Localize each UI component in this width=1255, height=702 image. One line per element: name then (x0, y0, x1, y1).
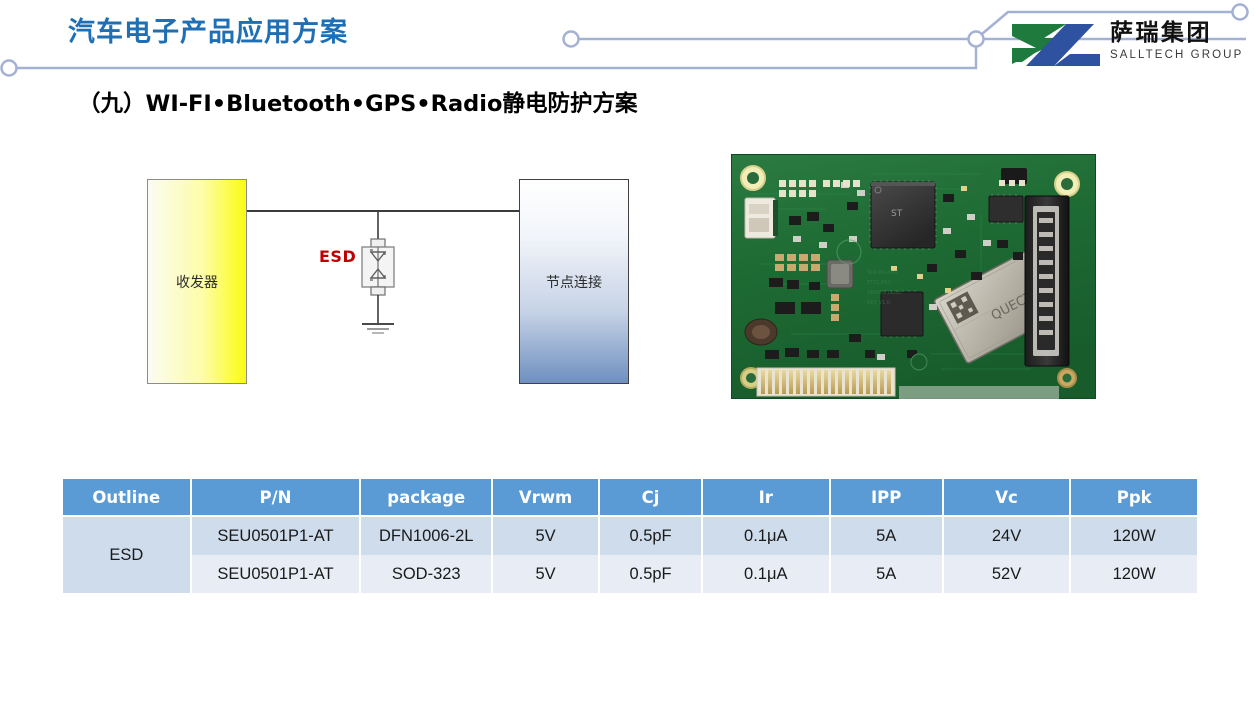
salltech-logo-mark (1008, 22, 1104, 74)
cell-ppk: 120W (1070, 555, 1197, 593)
svg-text:REV V1.0: REV V1.0 (867, 300, 890, 306)
col-header-package: package (360, 479, 492, 516)
cell-pn: SEU0501P1-AT (191, 555, 361, 593)
pcb-board-photo: ST QUECTEL (731, 154, 1096, 399)
cell-vrwm: 5V (492, 555, 599, 593)
esd-terminal-top (371, 239, 385, 247)
cell-cj: 0.5pF (599, 555, 702, 593)
trace-node-left (2, 61, 17, 76)
esd-protection-schematic: 收发器 节点连接 ESD (130, 160, 650, 410)
col-header-pn: P/N (191, 479, 361, 516)
svg-text:SCP-BD-ASD: SCP-BD-ASD (867, 270, 898, 276)
col-header-ir: Ir (702, 479, 830, 516)
trace-node-junction (969, 32, 984, 47)
trace-node-middle (564, 32, 579, 47)
schematic-box-node: 节点连接 (519, 179, 629, 384)
cell-vc: 52V (943, 555, 1071, 593)
svg-text:VER0001a2Bc: VER0001a2Bc (867, 290, 902, 296)
cell-vc: 24V (943, 516, 1071, 555)
cell-ir: 0.1μA (702, 555, 830, 593)
table-header-row: Outline P/N package Vrwm Cj Ir IPP Vc Pp… (63, 479, 1197, 516)
table-row: SEU0501P1-AT SOD-323 5V 0.5pF 0.1μA 5A 5… (63, 555, 1197, 593)
spec-table-container: Outline P/N package Vrwm Cj Ir IPP Vc Pp… (63, 479, 1197, 593)
cell-ir: 0.1μA (702, 516, 830, 555)
schematic-box-transceiver: 收发器 (147, 179, 247, 384)
svg-text:ST: ST (891, 209, 903, 219)
esd-spec-table: Outline P/N package Vrwm Cj Ir IPP Vc Pp… (63, 479, 1197, 593)
logo-company-en: SALLTECH GROUP (1110, 48, 1250, 63)
node-connection-label: 节点连接 (546, 272, 602, 292)
soic-chip (989, 196, 1023, 222)
logo-company-cn: 萨瑞集团 (1110, 18, 1250, 48)
cell-ipp: 5A (830, 555, 943, 593)
logo-wordmark: 萨瑞集团 SALLTECH GROUP (1110, 18, 1250, 63)
cell-ppk: 120W (1070, 516, 1197, 555)
table-row: ESD SEU0501P1-AT DFN1006-2L 5V 0.5pF 0.1… (63, 516, 1197, 555)
col-header-ipp: IPP (830, 479, 943, 516)
cell-outline-esd: ESD (63, 516, 191, 593)
col-header-vrwm: Vrwm (492, 479, 599, 516)
cell-cj: 0.5pF (599, 516, 702, 555)
col-header-ppk: Ppk (1070, 479, 1197, 516)
transceiver-label: 收发器 (176, 272, 218, 292)
col-header-outline: Outline (63, 479, 191, 516)
secondary-chip (881, 292, 923, 336)
brand-logo[interactable]: 萨瑞集团 SALLTECH GROUP (1008, 16, 1248, 78)
esd-component-label: ESD (319, 247, 356, 266)
cell-package: SOD-323 (360, 555, 492, 593)
svg-text:ET21-P01: ET21-P01 (867, 280, 891, 286)
page-title: 汽车电子产品应用方案 (68, 10, 348, 49)
cell-ipp: 5A (830, 516, 943, 555)
section-subtitle: （九）WI-FI•Bluetooth•GPS•Radio静电防护方案 (78, 86, 637, 118)
esd-terminal-bottom (371, 287, 385, 295)
col-header-cj: Cj (599, 479, 702, 516)
cell-vrwm: 5V (492, 516, 599, 555)
cell-package: DFN1006-2L (360, 516, 492, 555)
col-header-vc: Vc (943, 479, 1071, 516)
page-header: 汽车电子产品应用方案 萨瑞集团 SALLTECH GROUP (0, 0, 1255, 90)
pcb-board-illustration: ST QUECTEL (731, 154, 1096, 399)
cell-pn: SEU0501P1-AT (191, 516, 361, 555)
